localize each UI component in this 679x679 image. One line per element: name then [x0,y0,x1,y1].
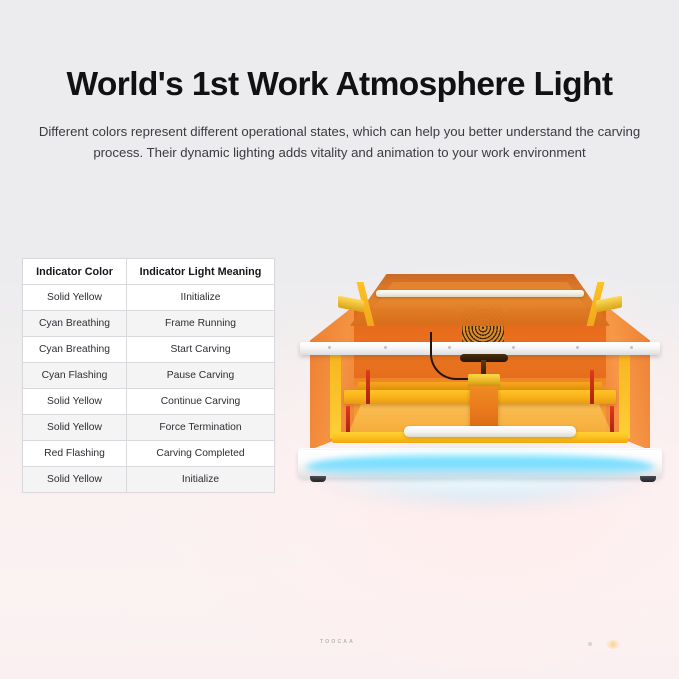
base-foot-right [640,476,656,482]
cell-indicator-meaning: Start Carving [127,337,275,363]
table-row: Solid Yellow Continue Carving [23,389,275,415]
column-header-indicator-color: Indicator Color [23,259,127,285]
table-row: Cyan Flashing Pause Carving [23,363,275,389]
cell-indicator-color: Solid Yellow [23,389,127,415]
indicator-table-wrapper: Indicator Color Indicator Light Meaning … [22,258,274,493]
table-row: Cyan Breathing Start Carving [23,337,275,363]
table-row: Red Flashing Carving Completed [23,441,275,467]
cell-indicator-color: Red Flashing [23,441,127,467]
limit-post-left-2 [346,406,350,434]
cell-indicator-meaning: Carving Completed [127,441,275,467]
cell-indicator-meaning: Force Termination [127,415,275,441]
table-row: Solid Yellow Force Termination [23,415,275,441]
frame-rail-screws [300,346,660,350]
laser-head-module [470,386,498,430]
column-header-indicator-meaning: Indicator Light Meaning [127,259,275,285]
cell-indicator-color: Cyan Breathing [23,337,127,363]
cell-indicator-meaning: Initialize [127,467,275,493]
table-row: Solid Yellow IInitialize [23,285,275,311]
lid-top-rail [376,290,584,297]
base-foot-left [310,476,326,482]
table-head: Indicator Color Indicator Light Meaning [23,259,275,285]
cell-indicator-color: Cyan Flashing [23,363,127,389]
limit-post-right-2 [610,406,614,434]
cell-indicator-meaning: Frame Running [127,311,275,337]
product-photo-laser-engraver: TOOCAA [288,268,678,518]
table-header-row: Indicator Color Indicator Light Meaning [23,259,275,285]
atmosphere-light-strip [306,454,654,480]
status-indicator-dot [588,642,592,646]
header-section: World's 1st Work Atmosphere Light Differ… [0,66,679,163]
cell-indicator-meaning: IInitialize [127,285,275,311]
cell-indicator-color: Cyan Breathing [23,311,127,337]
table-body: Solid Yellow IInitialize Cyan Breathing … [23,285,275,493]
page-title: World's 1st Work Atmosphere Light [14,66,665,105]
cell-indicator-meaning: Pause Carving [127,363,275,389]
brand-logo-text: TOOCAA [320,639,355,645]
indicator-light-table: Indicator Color Indicator Light Meaning … [22,258,275,493]
page-root: World's 1st Work Atmosphere Light Differ… [0,0,679,679]
cell-indicator-color: Solid Yellow [23,415,127,441]
limit-post-right [590,370,594,404]
bed-rail-right [619,350,630,441]
power-indicator-light [606,640,620,649]
table-row: Solid Yellow Initialize [23,467,275,493]
table-row: Cyan Breathing Frame Running [23,311,275,337]
limit-post-left [366,370,370,404]
bed-rail-left [330,350,341,441]
page-subtitle: Different colors represent different ope… [32,121,648,164]
acrylic-enclosure [310,274,650,458]
cell-indicator-color: Solid Yellow [23,285,127,311]
enclosure-lid-inner [362,282,598,324]
workpiece [404,426,576,437]
cell-indicator-meaning: Continue Carving [127,389,275,415]
cell-indicator-color: Solid Yellow [23,467,127,493]
